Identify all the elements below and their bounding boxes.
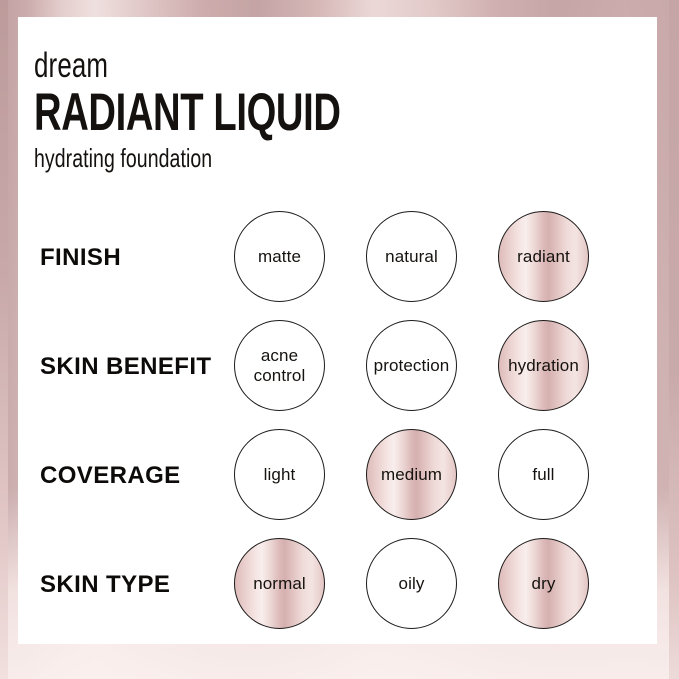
attribute-row: SKIN TYPEnormaloilydry [18,530,657,639]
option-circle-natural[interactable]: natural [366,211,457,302]
product-descriptor: hydrating foundation [34,145,353,171]
option-circle-protection[interactable]: protection [366,320,457,411]
option-group: mattenaturalradiant [232,203,632,312]
row-label-skin-type: SKIN TYPE [40,571,170,599]
option-circle-radiant[interactable]: radiant [498,211,589,302]
row-label-finish: FINISH [40,244,121,272]
option-group: lightmediumfull [232,421,632,530]
frame-left-edge [0,0,8,679]
attribute-row: COVERAGElightmediumfull [18,421,657,530]
option-circle-normal[interactable]: normal [234,538,325,629]
option-label: matte [258,247,301,266]
option-label: dry [532,574,556,593]
option-circle-matte[interactable]: matte [234,211,325,302]
option-label: normal [253,574,306,593]
product-name: RADIANT LIQUID [34,86,341,140]
attribute-row: FINISHmattenaturalradiant [18,203,657,312]
product-infographic: dream RADIANT LIQUID hydrating foundatio… [0,0,679,679]
option-label: hydration [508,356,579,375]
option-circle-hydration[interactable]: hydration [498,320,589,411]
option-circle-dry[interactable]: dry [498,538,589,629]
option-circle-acne-control[interactable]: acne control [234,320,325,411]
option-label: full [532,465,554,484]
title-block: dream RADIANT LIQUID hydrating foundatio… [34,48,460,171]
option-circle-light[interactable]: light [234,429,325,520]
option-circle-full[interactable]: full [498,429,589,520]
option-group: acne controlprotectionhydration [232,312,632,421]
option-circle-medium[interactable]: medium [366,429,457,520]
option-circle-oily[interactable]: oily [366,538,457,629]
row-label-skin-benefit: SKIN BENEFIT [40,353,211,381]
option-label: oily [399,574,425,593]
option-label: protection [374,356,450,375]
content-card: dream RADIANT LIQUID hydrating foundatio… [18,17,657,644]
row-label-coverage: COVERAGE [40,462,181,490]
attribute-row: SKIN BENEFITacne controlprotectionhydrat… [18,312,657,421]
option-label: acne control [254,346,306,384]
option-label: medium [381,465,442,484]
brand-eyebrow: dream [34,48,349,83]
frame-right-edge [669,0,679,679]
option-label: natural [385,247,438,266]
option-label: light [264,465,296,484]
option-group: normaloilydry [232,530,632,639]
attribute-matrix: FINISHmattenaturalradiantSKIN BENEFITacn… [18,203,657,639]
option-label: radiant [517,247,570,266]
